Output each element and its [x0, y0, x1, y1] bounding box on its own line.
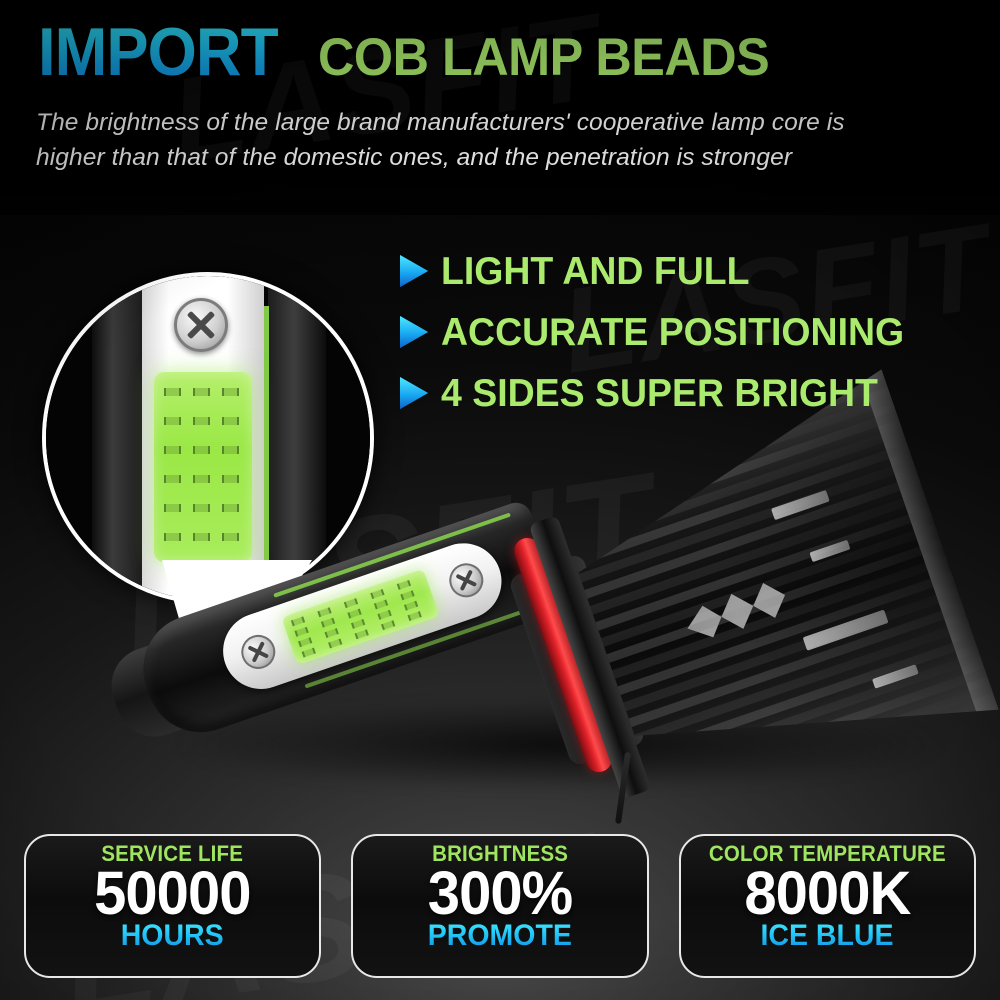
led-bulb-product-image	[120, 400, 1000, 830]
feature-list: LIGHT AND FULL ACCURATE POSITIONING 4 SI…	[400, 243, 990, 426]
led-die	[325, 628, 339, 638]
led-die	[397, 580, 411, 590]
led-die	[351, 619, 365, 629]
feature-label: ACCURATE POSITIONING	[441, 313, 904, 352]
spec-card-value: 8000K	[744, 864, 910, 923]
spec-card-color-temperature: COLOR TEMPERATURE 8000K ICE BLUE	[679, 834, 976, 978]
triangle-right-icon	[400, 316, 428, 348]
screw-icon	[445, 559, 488, 602]
subtitle-line-2: higher than that of the domestic ones, a…	[36, 141, 936, 176]
led-die	[164, 388, 181, 396]
led-die	[347, 609, 361, 619]
screw-icon	[237, 630, 280, 673]
led-die	[317, 607, 331, 617]
spec-card-unit: ICE BLUE	[761, 921, 894, 951]
product-marketing-banner: LASFIT LASFIT LASFIT LASFIT IMPORT COB L…	[0, 0, 1000, 1000]
header: IMPORT COB LAMP BEADS The brightness of …	[0, 0, 1000, 200]
led-die	[408, 611, 422, 621]
led-die	[298, 637, 312, 647]
led-die	[377, 610, 391, 620]
led-die	[404, 601, 418, 611]
led-die	[370, 589, 384, 599]
spec-card-unit: PROMOTE	[428, 921, 572, 951]
feature-item: ACCURATE POSITIONING	[400, 304, 990, 360]
led-die	[328, 639, 342, 649]
led-die	[291, 616, 305, 626]
led-die	[222, 388, 239, 396]
feature-label: 4 SIDES SUPER BRIGHT	[441, 374, 878, 413]
spec-card-unit: HOURS	[121, 921, 224, 951]
led-die	[381, 620, 395, 630]
page-title-primary: IMPORT	[38, 18, 278, 86]
led-die	[302, 648, 316, 658]
led-die	[193, 388, 210, 396]
spec-card-service-life: SERVICE LIFE 50000 HOURS	[24, 834, 321, 978]
feature-label: LIGHT AND FULL	[441, 252, 749, 291]
subtitle: The brightness of the large brand manufa…	[36, 106, 936, 176]
triangle-right-icon	[400, 377, 428, 409]
title-row: IMPORT COB LAMP BEADS	[38, 18, 793, 86]
spec-card-value: 50000	[94, 864, 250, 923]
spec-card-brightness: BRIGHTNESS 300% PROMOTE	[351, 834, 648, 978]
subtitle-line-1: The brightness of the large brand manufa…	[36, 106, 936, 141]
led-die	[294, 627, 308, 637]
feature-item: LIGHT AND FULL	[400, 243, 990, 299]
screw-icon	[174, 298, 228, 352]
led-die	[374, 599, 388, 609]
feature-item: 4 SIDES SUPER BRIGHT	[400, 365, 990, 421]
led-die	[400, 590, 414, 600]
led-panel	[213, 533, 512, 699]
led-die	[344, 598, 358, 608]
spec-card-value: 300%	[428, 864, 572, 923]
led-die	[355, 629, 369, 639]
page-title-secondary: COB LAMP BEADS	[318, 31, 769, 84]
triangle-right-icon	[400, 255, 428, 287]
led-die	[321, 618, 335, 628]
spec-card-group: SERVICE LIFE 50000 HOURS BRIGHTNESS 300%…	[24, 834, 976, 978]
